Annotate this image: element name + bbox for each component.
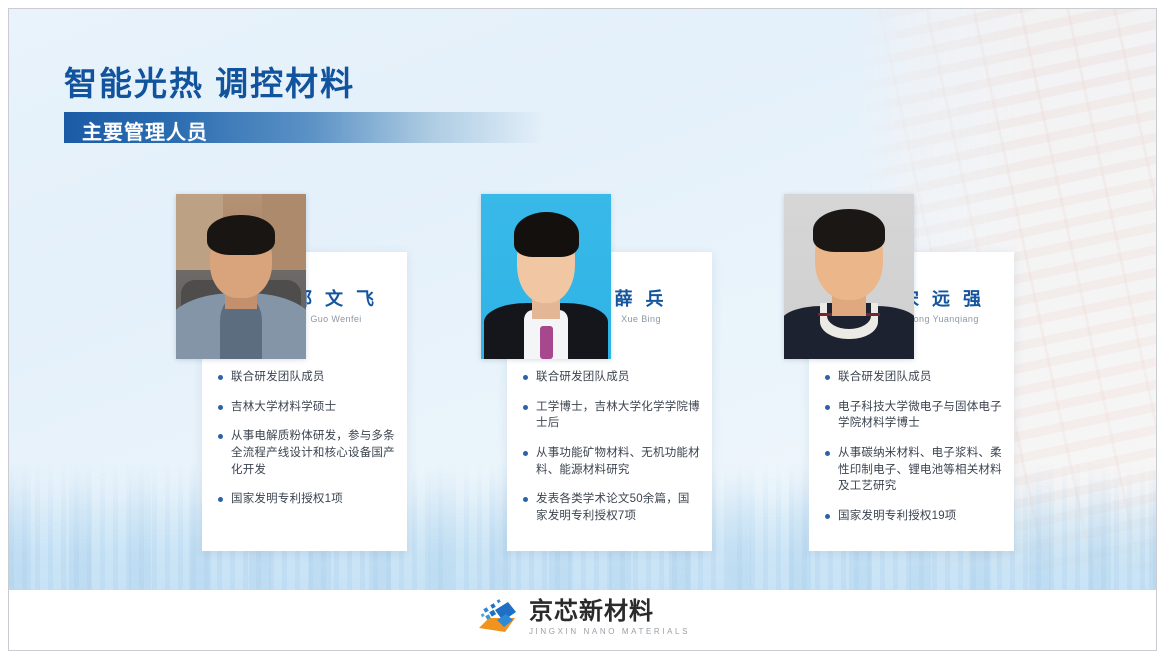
- list-item: 国家发明专利授权1项: [216, 491, 395, 508]
- list-item: 联合研发团队成员: [521, 369, 700, 386]
- list-item: 联合研发团队成员: [823, 369, 1002, 386]
- list-item: 联合研发团队成员: [216, 369, 395, 386]
- company-logo: 京芯新材料 JINGXIN NANO MATERIALS: [9, 594, 1156, 642]
- list-item: 国家发明专利授权19项: [823, 508, 1002, 525]
- list-item: 从事电解质粉体研发，参与多条全流程产线设计和核心设备国产化开发: [216, 428, 395, 478]
- section-heading-label: 主要管理人员: [82, 116, 208, 145]
- person-photo: [481, 194, 611, 359]
- person-photo: [176, 194, 306, 359]
- list-item: 从事碳纳米材料、电子浆料、柔性印制电子、锂电池等相关材料及工艺研究: [823, 445, 1002, 495]
- person-bullet-list: 联合研发团队成员 电子科技大学微电子与固体电子学院材料学博士 从事碳纳米材料、电…: [823, 369, 1002, 538]
- person-bullet-list: 联合研发团队成员 吉林大学材料学硕士 从事电解质粉体研发，参与多条全流程产线设计…: [216, 369, 395, 521]
- list-item: 从事功能矿物材料、无机功能材料、能源材料研究: [521, 445, 700, 478]
- slide-frame: 智能光热 调控材料 主要管理人员 郭 文 飞 Guo Wenfei 联合研发团队…: [8, 8, 1157, 651]
- list-item: 发表各类学术论文50余篇，国家发明专利授权7项: [521, 491, 700, 524]
- list-item: 电子科技大学微电子与固体电子学院材料学博士: [823, 399, 1002, 432]
- logo-name-en: JINGXIN NANO MATERIALS: [529, 627, 690, 636]
- jingxin-logo-icon: [475, 598, 519, 638]
- logo-name-cn: 京芯新材料: [529, 600, 654, 624]
- person-bullet-list: 联合研发团队成员 工学博士，吉林大学化学学院博士后 从事功能矿物材料、无机功能材…: [521, 369, 700, 538]
- person-photo: [784, 194, 914, 359]
- slide-root: 智能光热 调控材料 主要管理人员 郭 文 飞 Guo Wenfei 联合研发团队…: [0, 0, 1165, 659]
- list-item: 工学博士，吉林大学化学学院博士后: [521, 399, 700, 432]
- list-item: 吉林大学材料学硕士: [216, 399, 395, 416]
- page-title: 智能光热 调控材料: [64, 57, 355, 105]
- logo-text: 京芯新材料 JINGXIN NANO MATERIALS: [529, 600, 690, 636]
- section-heading-bar: 主要管理人员: [64, 112, 544, 143]
